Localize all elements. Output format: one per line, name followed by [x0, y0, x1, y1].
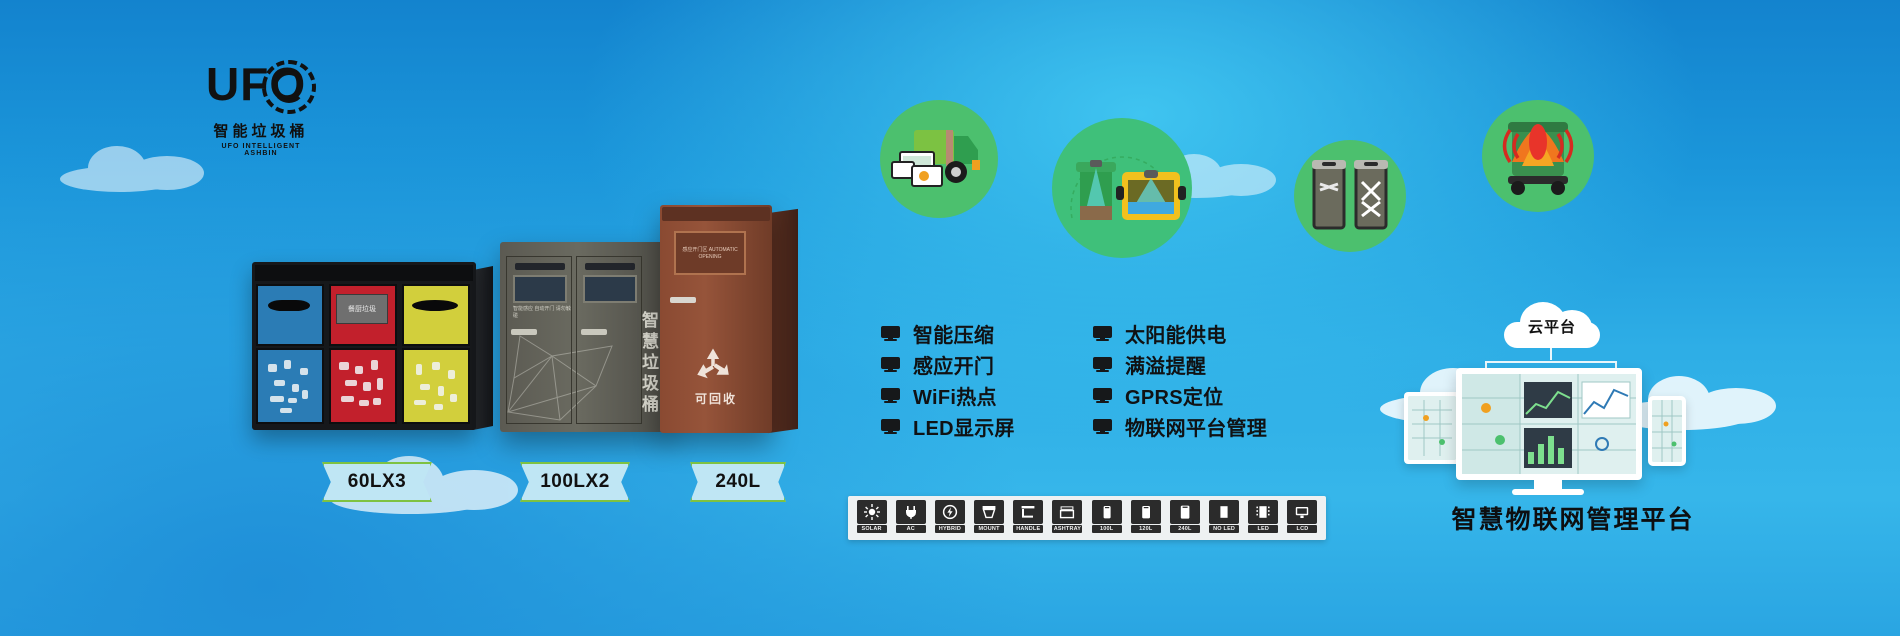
- spec-label: LCD: [1287, 525, 1317, 533]
- led-icon: [1248, 500, 1278, 524]
- waste-slot-icon: [268, 300, 310, 311]
- circular-ring-icon: [262, 60, 316, 114]
- bin-panel-label: 餐厨垃圾: [337, 295, 387, 325]
- litter-graphic: [331, 350, 395, 422]
- product-bin-gray: 智能感应 自动开门 请勿触碰 智慧垃圾桶: [500, 242, 672, 432]
- feature-column-left: 智能压缩 感应开门 WiFi热点 LED显示屏: [880, 318, 1015, 442]
- spec-label: 100L: [1092, 525, 1122, 533]
- bin-gray-window: [513, 275, 567, 303]
- bin-panel-upper: 餐厨垃圾: [329, 284, 397, 346]
- logo-cn-name: 智能垃圾桶: [206, 120, 316, 141]
- litter-graphic: [258, 350, 322, 422]
- platform-device-phone[interactable]: [1648, 396, 1686, 466]
- bin-panel-lower: [402, 348, 470, 424]
- monitor-icon: [1092, 357, 1114, 373]
- spec-label: HANDLE: [1013, 525, 1043, 533]
- bin-gray-door-label: 智能感应 自动开门 请勿触碰: [513, 305, 571, 319]
- feature-label: WiFi热点: [913, 381, 997, 410]
- door-cap: [515, 263, 565, 270]
- recycle-icon: [692, 345, 734, 387]
- platform-device-monitor[interactable]: [1456, 368, 1642, 480]
- spec-label: 240L: [1170, 525, 1200, 533]
- spec-icon-handle[interactable]: HANDLE: [1010, 500, 1047, 536]
- bin-brown-window-text: 感应开门区 AUTOMATIC OPENING: [676, 247, 744, 261]
- bin-panel-paper: 纸类垃圾: [256, 284, 324, 424]
- cloud-platform-label: 云平台: [1504, 316, 1600, 337]
- bin-gray-handle[interactable]: [581, 329, 607, 335]
- spec-icon-hybrid[interactable]: HYBRID: [931, 500, 968, 536]
- spec-label: AC: [896, 525, 926, 533]
- bin-panel-lower: [256, 348, 324, 424]
- bin-120l-icon: [1131, 500, 1161, 524]
- bin-panel-kitchen: 餐厨垃圾: [329, 284, 397, 424]
- bin-panel-upper: 纸类垃圾: [256, 284, 324, 346]
- bin-panel-metal-glass: 金属玻璃: [402, 284, 470, 424]
- feature-item: WiFi热点: [880, 380, 1015, 411]
- spec-icon-led[interactable]: LED: [1245, 500, 1282, 536]
- spec-icon-strip: SOLAR AC HYBRID MOUNT: [848, 496, 1326, 540]
- product-bin-brown: 感应开门区 AUTOMATIC OPENING 可回收: [660, 205, 772, 433]
- bin-gray-handle[interactable]: [511, 329, 537, 335]
- platform-title: 智慧物联网管理平台: [1428, 500, 1718, 536]
- bin-brown-lid: [662, 207, 770, 221]
- product-bin-trio: 纸类垃圾 餐厨垃圾: [252, 262, 476, 430]
- handle-icon: [1013, 500, 1043, 524]
- bin-panel-lower: [329, 348, 397, 424]
- litter-graphic: [404, 350, 468, 422]
- logo-mark: UFO: [206, 56, 316, 118]
- brand-logo: UFO 智能垃圾桶 UFO INTELLIGENT ASHBIN: [206, 56, 316, 148]
- spec-icon-ashtray[interactable]: ASHTRAY: [1049, 500, 1086, 536]
- capacity-label: 100LX2: [540, 471, 610, 493]
- spec-icon-no-led[interactable]: NO LED: [1206, 500, 1243, 536]
- compaction-icon: [1294, 140, 1406, 252]
- capacity-label: 60LX3: [348, 471, 406, 493]
- no-led-icon: [1209, 500, 1239, 524]
- monitor-icon: [1092, 419, 1114, 435]
- feature-label: 太阳能供电: [1125, 319, 1227, 348]
- spec-icon-100l[interactable]: 100L: [1088, 500, 1125, 536]
- ashtray-icon: [1052, 500, 1082, 524]
- monitor-icon: [1092, 388, 1114, 404]
- bin-gray-door-right: [576, 256, 642, 424]
- bin-gray-body: 智能感应 自动开门 请勿触碰 智慧垃圾桶: [500, 242, 672, 432]
- feature-circle-compaction: [1294, 140, 1406, 252]
- phone-screen: [1652, 400, 1682, 462]
- bin-brown-body: 感应开门区 AUTOMATIC OPENING 可回收: [660, 205, 772, 433]
- wall-mount-icon: [974, 500, 1004, 524]
- monitor-icon: [1092, 326, 1114, 342]
- tablet-screen: [1408, 396, 1456, 460]
- feature-column-right: 太阳能供电 满溢提醒 GPRS定位 物联网平台管理: [1092, 318, 1267, 442]
- bin-gray-window: [583, 275, 637, 303]
- capacity-ribbon-gray: 100LX2: [520, 462, 630, 502]
- bin-display-screen: 餐厨垃圾: [336, 294, 388, 324]
- banner-stage: UFO 智能垃圾桶 UFO INTELLIGENT ASHBIN 纸类垃圾: [0, 0, 1900, 636]
- platform-device-tablet[interactable]: [1404, 392, 1460, 464]
- monitor-screen: [1462, 374, 1636, 474]
- spec-icon-120l[interactable]: 120L: [1127, 500, 1164, 536]
- feature-item: 满溢提醒: [1092, 349, 1267, 380]
- bin-trio-lid: [255, 265, 473, 281]
- feature-circle-sensor: [1052, 118, 1192, 258]
- feature-label: GPRS定位: [1125, 381, 1223, 410]
- spec-label: ASHTRAY: [1052, 525, 1082, 533]
- bin-gray-vertical-text: 智慧垃圾桶: [640, 310, 662, 415]
- feature-item: 智能压缩: [880, 318, 1015, 349]
- spec-label: MOUNT: [974, 525, 1004, 533]
- feature-label: 满溢提醒: [1125, 350, 1206, 379]
- spec-label: NO LED: [1209, 525, 1239, 533]
- feature-circle-truck: [880, 100, 998, 218]
- capacity-ribbon-brown: 240L: [690, 462, 786, 502]
- capacity-ribbon-trio: 60LX3: [322, 462, 432, 502]
- feature-label: 智能压缩: [913, 319, 994, 348]
- lcd-icon: [1287, 500, 1317, 524]
- spec-icon-240l[interactable]: 240L: [1166, 500, 1203, 536]
- cloud-platform-tag: 云平台: [1504, 302, 1600, 348]
- bin-brown-window: 感应开门区 AUTOMATIC OPENING: [674, 231, 746, 275]
- bin-240l-icon: [1170, 500, 1200, 524]
- spec-label: HYBRID: [935, 525, 965, 533]
- feature-item: LED显示屏: [880, 411, 1015, 442]
- power-plug-icon: [896, 500, 926, 524]
- feature-label: LED显示屏: [913, 412, 1015, 441]
- truck-monitoring-icon: [880, 100, 998, 218]
- bin-brown-recycle-label: 可回收: [660, 390, 772, 407]
- monitor-icon: [880, 357, 902, 373]
- spec-icon-solar[interactable]: SOLAR: [853, 500, 890, 536]
- bin-trio-side: [473, 266, 493, 430]
- feature-label: 感应开门: [913, 350, 994, 379]
- capacity-label: 240L: [715, 471, 760, 493]
- feature-item: 感应开门: [880, 349, 1015, 380]
- spec-label: LED: [1248, 525, 1278, 533]
- monitor-icon: [880, 419, 902, 435]
- bin-brown-side: [768, 209, 798, 433]
- monitor-icon: [880, 326, 902, 342]
- monitor-icon: [880, 388, 902, 404]
- feature-item: GPRS定位: [1092, 380, 1267, 411]
- waste-slot-icon: [412, 300, 458, 311]
- spec-icon-lcd[interactable]: LCD: [1284, 500, 1321, 536]
- bin-gray-door-left: 智能感应 自动开门 请勿触碰: [506, 256, 572, 424]
- monitor-base: [1512, 489, 1584, 495]
- spec-label: 120L: [1131, 525, 1161, 533]
- bin-trio-body: 纸类垃圾 餐厨垃圾: [252, 262, 476, 430]
- feature-circle-fire: [1482, 100, 1594, 212]
- fire-alarm-icon: [1482, 100, 1594, 212]
- spec-icon-mount[interactable]: MOUNT: [971, 500, 1008, 536]
- sun-icon: [857, 500, 887, 524]
- fill-level-sensor-icon: [1052, 118, 1192, 258]
- feature-label: 物联网平台管理: [1125, 412, 1267, 441]
- monitor-frame: [1456, 368, 1642, 480]
- logo-en-name: UFO INTELLIGENT ASHBIN: [206, 143, 316, 157]
- bin-brown-handle[interactable]: [670, 297, 696, 303]
- spec-label: SOLAR: [857, 525, 887, 533]
- spec-icon-ac[interactable]: AC: [892, 500, 929, 536]
- feature-item: 太阳能供电: [1092, 318, 1267, 349]
- feature-item: 物联网平台管理: [1092, 411, 1267, 442]
- bin-100l-icon: [1092, 500, 1122, 524]
- bin-panel-upper: 金属玻璃: [402, 284, 470, 346]
- lightning-circle-icon: [935, 500, 965, 524]
- door-cap: [585, 263, 635, 270]
